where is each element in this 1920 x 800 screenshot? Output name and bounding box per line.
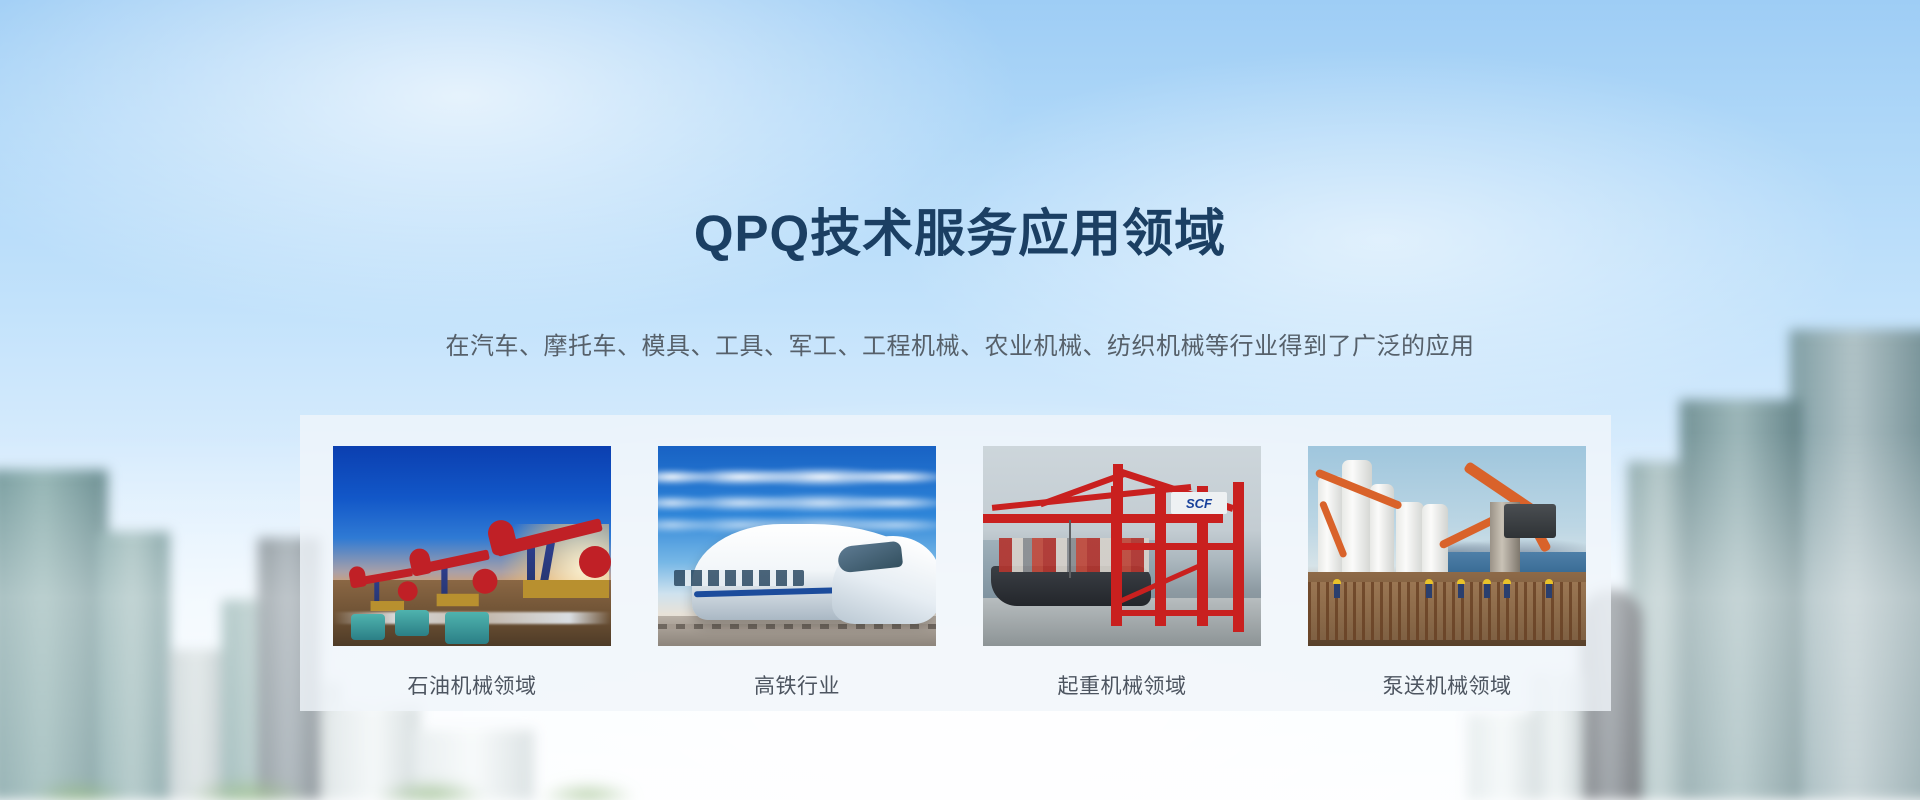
operator-cab <box>1504 504 1556 538</box>
crane-leg <box>1155 486 1166 626</box>
page-title: QPQ技术服务应用领域 <box>0 192 1920 266</box>
concrete-pump-photo[interactable] <box>1308 446 1586 646</box>
worker <box>1334 584 1340 598</box>
worker <box>1458 584 1464 598</box>
worker <box>1426 584 1432 598</box>
card-caption: 泵送机械领域 <box>1308 670 1586 700</box>
high-speed-train-photo[interactable] <box>658 446 936 646</box>
application-card-list: 石油机械领域 高铁行业 <box>333 446 1586 700</box>
application-panel: 石油机械领域 高铁行业 <box>300 415 1611 711</box>
worker <box>1504 584 1510 598</box>
crane-boom <box>983 514 1223 523</box>
crane-hoist-cable <box>1069 520 1071 578</box>
card-caption: 高铁行业 <box>658 670 936 700</box>
application-card[interactable]: SCF 起重机械领域 <box>983 446 1261 700</box>
application-card[interactable]: 高铁行业 <box>658 446 936 700</box>
application-card[interactable]: 泵送机械领域 <box>1308 446 1586 700</box>
cement-silo <box>1396 502 1424 572</box>
card-caption: 石油机械领域 <box>333 670 611 700</box>
port-gantry-crane-photo[interactable]: SCF <box>983 446 1261 646</box>
crane-cross-brace <box>1113 610 1241 616</box>
crane-cross-brace <box>1111 543 1241 550</box>
wellhead-valve <box>395 610 429 636</box>
scf-logo: SCF <box>1171 492 1227 514</box>
application-card[interactable]: 石油机械领域 <box>333 446 611 700</box>
worker <box>1546 584 1552 598</box>
page-subtitle: 在汽车、摩托车、模具、工具、军工、工程机械、农业机械、纺织机械等行业得到了广泛的… <box>0 326 1920 361</box>
cloud <box>658 464 936 490</box>
card-caption: 起重机械领域 <box>983 670 1261 700</box>
wellhead-valve <box>351 614 385 640</box>
cement-silo <box>1422 504 1448 572</box>
rebar-grid <box>1308 582 1586 640</box>
train-windows <box>674 570 804 586</box>
oil-pumpjack-photo[interactable] <box>333 446 611 646</box>
worker <box>1484 584 1490 598</box>
wellhead-valve <box>445 612 489 644</box>
